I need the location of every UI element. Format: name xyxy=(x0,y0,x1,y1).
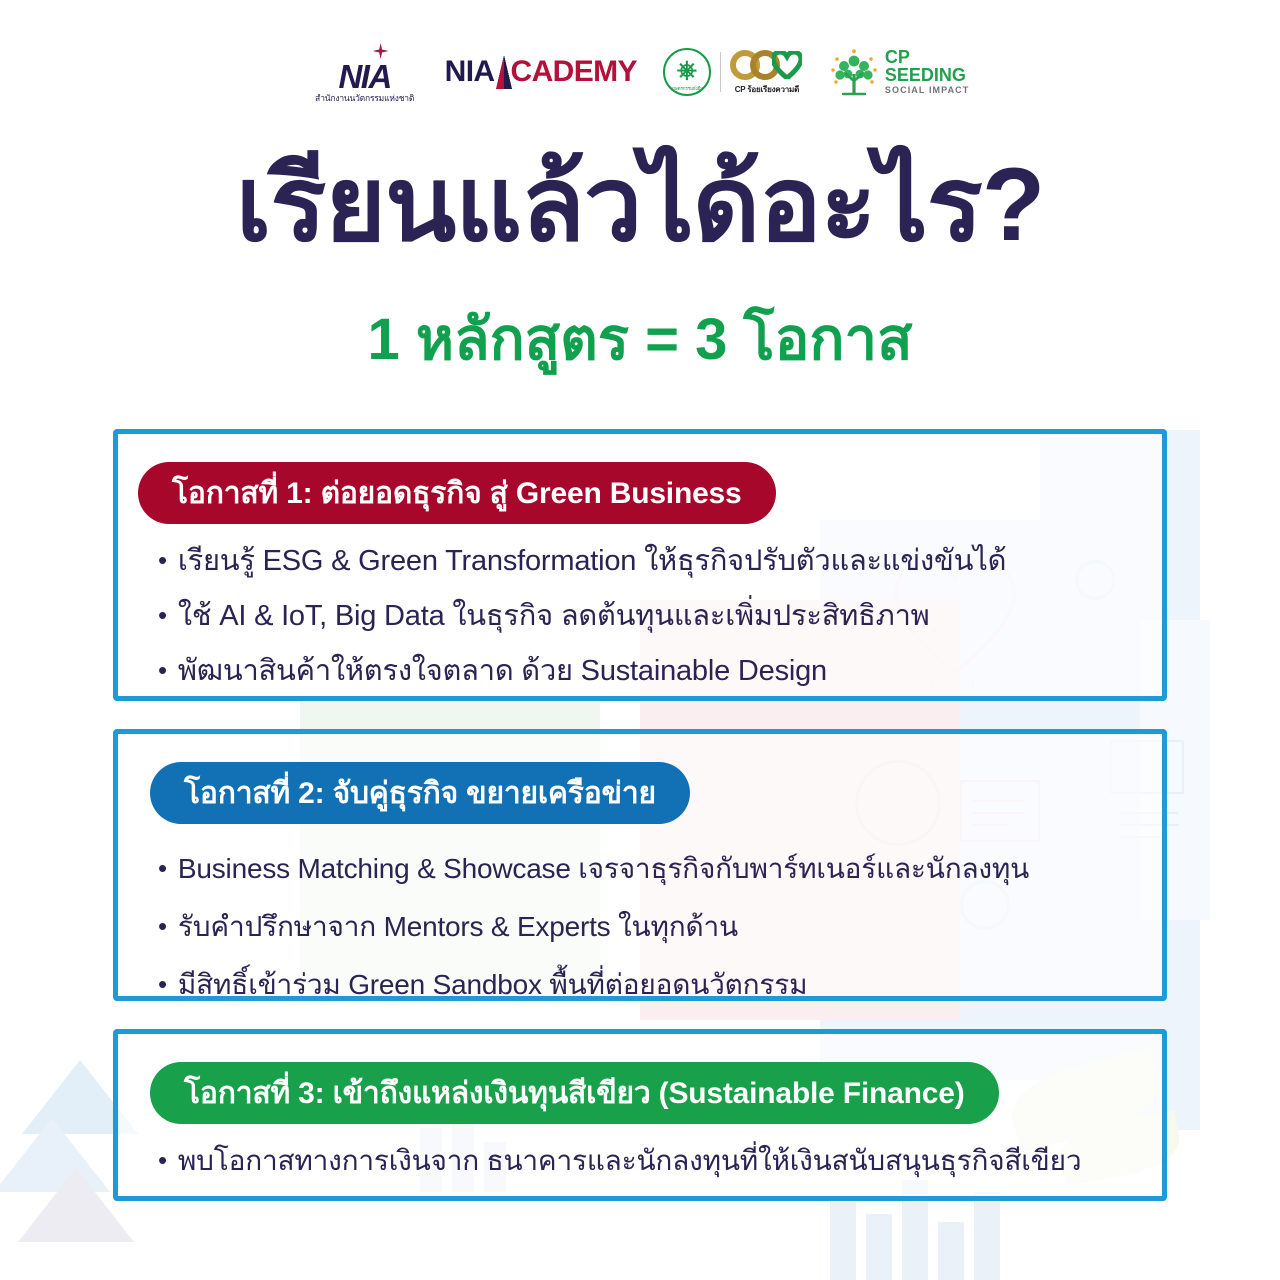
star-icon xyxy=(373,43,389,59)
page-title: เรียนแล้วได้อะไร? xyxy=(0,148,1280,262)
logo-row: NIA สำนักงานนวัตกรรมแห่งชาติ NIA CADEMY … xyxy=(0,38,1280,106)
opportunity-card-2: โอกาสที่ 2: จับคู่ธุรกิจ ขยายเครือข่าย •… xyxy=(113,729,1167,1001)
list-item: • พบโอกาสทางการเงินจาก ธนาคารและนักลงทุน… xyxy=(158,1144,1136,1177)
tree-icon xyxy=(830,48,878,96)
seeding-seeding-text: SEEDING xyxy=(885,67,969,84)
nia-academy-logo: NIA CADEMY xyxy=(445,55,637,89)
list-item: • มีสิทธิ์เข้าร่วม Green Sandbox พื้นที่… xyxy=(158,968,1136,1001)
list-item: • ใช้ AI & IoT, Big Data ในธุรกิจ ลดต้นท… xyxy=(158,599,1136,633)
academy-cademy-text: CADEMY xyxy=(511,57,637,87)
bullet-marker-icon: • xyxy=(158,544,167,577)
watermark-bar xyxy=(866,1214,892,1280)
cp-lockup-caption: CP ร้อยเรียงความดี xyxy=(735,83,799,96)
academy-a-mark-icon xyxy=(496,55,512,89)
bullet-marker-icon: • xyxy=(158,910,167,943)
nia-logo: NIA สำนักงานนวัตกรรมแห่งชาติ xyxy=(311,42,419,102)
card-2-header-pill: โอกาสที่ 2: จับคู่ธุรกิจ ขยายเครือข่าย xyxy=(150,762,690,824)
nia-wordmark: NIA xyxy=(338,60,390,93)
poster-canvas: NIA สำนักงานนวัตกรรมแห่งชาติ NIA CADEMY … xyxy=(0,0,1280,1280)
bullet-marker-icon: • xyxy=(158,968,167,1001)
card-1-header-pill: โอกาสที่ 1: ต่อยอดธุรกิจ สู่ Green Busin… xyxy=(138,462,776,524)
green-heart-icon xyxy=(772,51,802,79)
watermark-bar xyxy=(974,1192,1000,1280)
list-item-text: Business Matching & Showcase เจรจาธุรกิจ… xyxy=(178,852,1029,885)
academy-nia-text: NIA xyxy=(445,57,495,87)
list-item-text: พบโอกาสทางการเงินจาก ธนาคารและนักลงทุนที… xyxy=(178,1144,1081,1177)
bullet-marker-icon: • xyxy=(158,654,167,687)
card-1-bullet-list: • เรียนรู้ ESG & Green Transformation ให… xyxy=(158,544,1136,710)
bullet-marker-icon: • xyxy=(158,599,167,632)
cp-connect-goodness-logo: ⎈ เกษตรกรรมยั่งยืน CP ร้อยเรียงความดี xyxy=(663,44,804,100)
bullet-marker-icon: • xyxy=(158,1144,167,1177)
list-item-text: เรียนรู้ ESG & Green Transformation ให้ธ… xyxy=(178,544,1006,578)
cp-seeding-wordmark: CP SEEDING SOCIAL IMPACT xyxy=(885,49,969,94)
list-item-text: รับคำปรึกษาจาก Mentors & Experts ในทุกด้… xyxy=(178,910,738,943)
cp-seal-glyph: ⎈ xyxy=(677,58,697,83)
list-item: • Business Matching & Showcase เจรจาธุรก… xyxy=(158,852,1136,885)
cp-rings-icon xyxy=(730,49,804,81)
logo-divider xyxy=(720,52,721,92)
opportunity-card-1: โอกาสที่ 1: ต่อยอดธุรกิจ สู่ Green Busin… xyxy=(113,429,1167,701)
cp-seeding-logo: CP SEEDING SOCIAL IMPACT xyxy=(830,48,969,96)
list-item: • รับคำปรึกษาจาก Mentors & Experts ในทุก… xyxy=(158,910,1136,943)
cp-rings-lockup: CP ร้อยเรียงความดี xyxy=(730,49,804,96)
list-item-text: ใช้ AI & IoT, Big Data ในธุรกิจ ลดต้นทุน… xyxy=(178,599,930,633)
bullet-marker-icon: • xyxy=(158,852,167,885)
list-item: • เรียนรู้ ESG & Green Transformation ให… xyxy=(158,544,1136,578)
seeding-tagline: SOCIAL IMPACT xyxy=(885,86,969,95)
cp-seal-caption: เกษตรกรรมยั่งยืน xyxy=(665,85,709,92)
page-subtitle: 1 หลักสูตร = 3 โอกาส xyxy=(0,308,1280,372)
cp-sustainable-agriculture-seal-icon: ⎈ เกษตรกรรมยั่งยืน xyxy=(663,48,711,96)
card-2-bullet-list: • Business Matching & Showcase เจรจาธุรก… xyxy=(158,852,1136,1026)
card-3-bullet-list: • พบโอกาสทางการเงินจาก ธนาคารและนักลงทุน… xyxy=(158,1144,1136,1198)
watermark-bar xyxy=(830,1196,856,1280)
watermark-bar xyxy=(938,1222,964,1280)
nia-subtitle: สำนักงานนวัตกรรมแห่งชาติ xyxy=(315,94,414,103)
opportunity-card-3: โอกาสที่ 3: เข้าถึงแหล่งเงินทุนสีเขียว (… xyxy=(113,1029,1167,1201)
list-item-text: มีสิทธิ์เข้าร่วม Green Sandbox พื้นที่ต่… xyxy=(178,968,807,1001)
card-3-header-pill: โอกาสที่ 3: เข้าถึงแหล่งเงินทุนสีเขียว (… xyxy=(150,1062,999,1124)
list-item: • พัฒนาสินค้าให้ตรงใจตลาด ด้วย Sustainab… xyxy=(158,654,1136,688)
list-item-text: พัฒนาสินค้าให้ตรงใจตลาด ด้วย Sustainable… xyxy=(178,654,827,688)
